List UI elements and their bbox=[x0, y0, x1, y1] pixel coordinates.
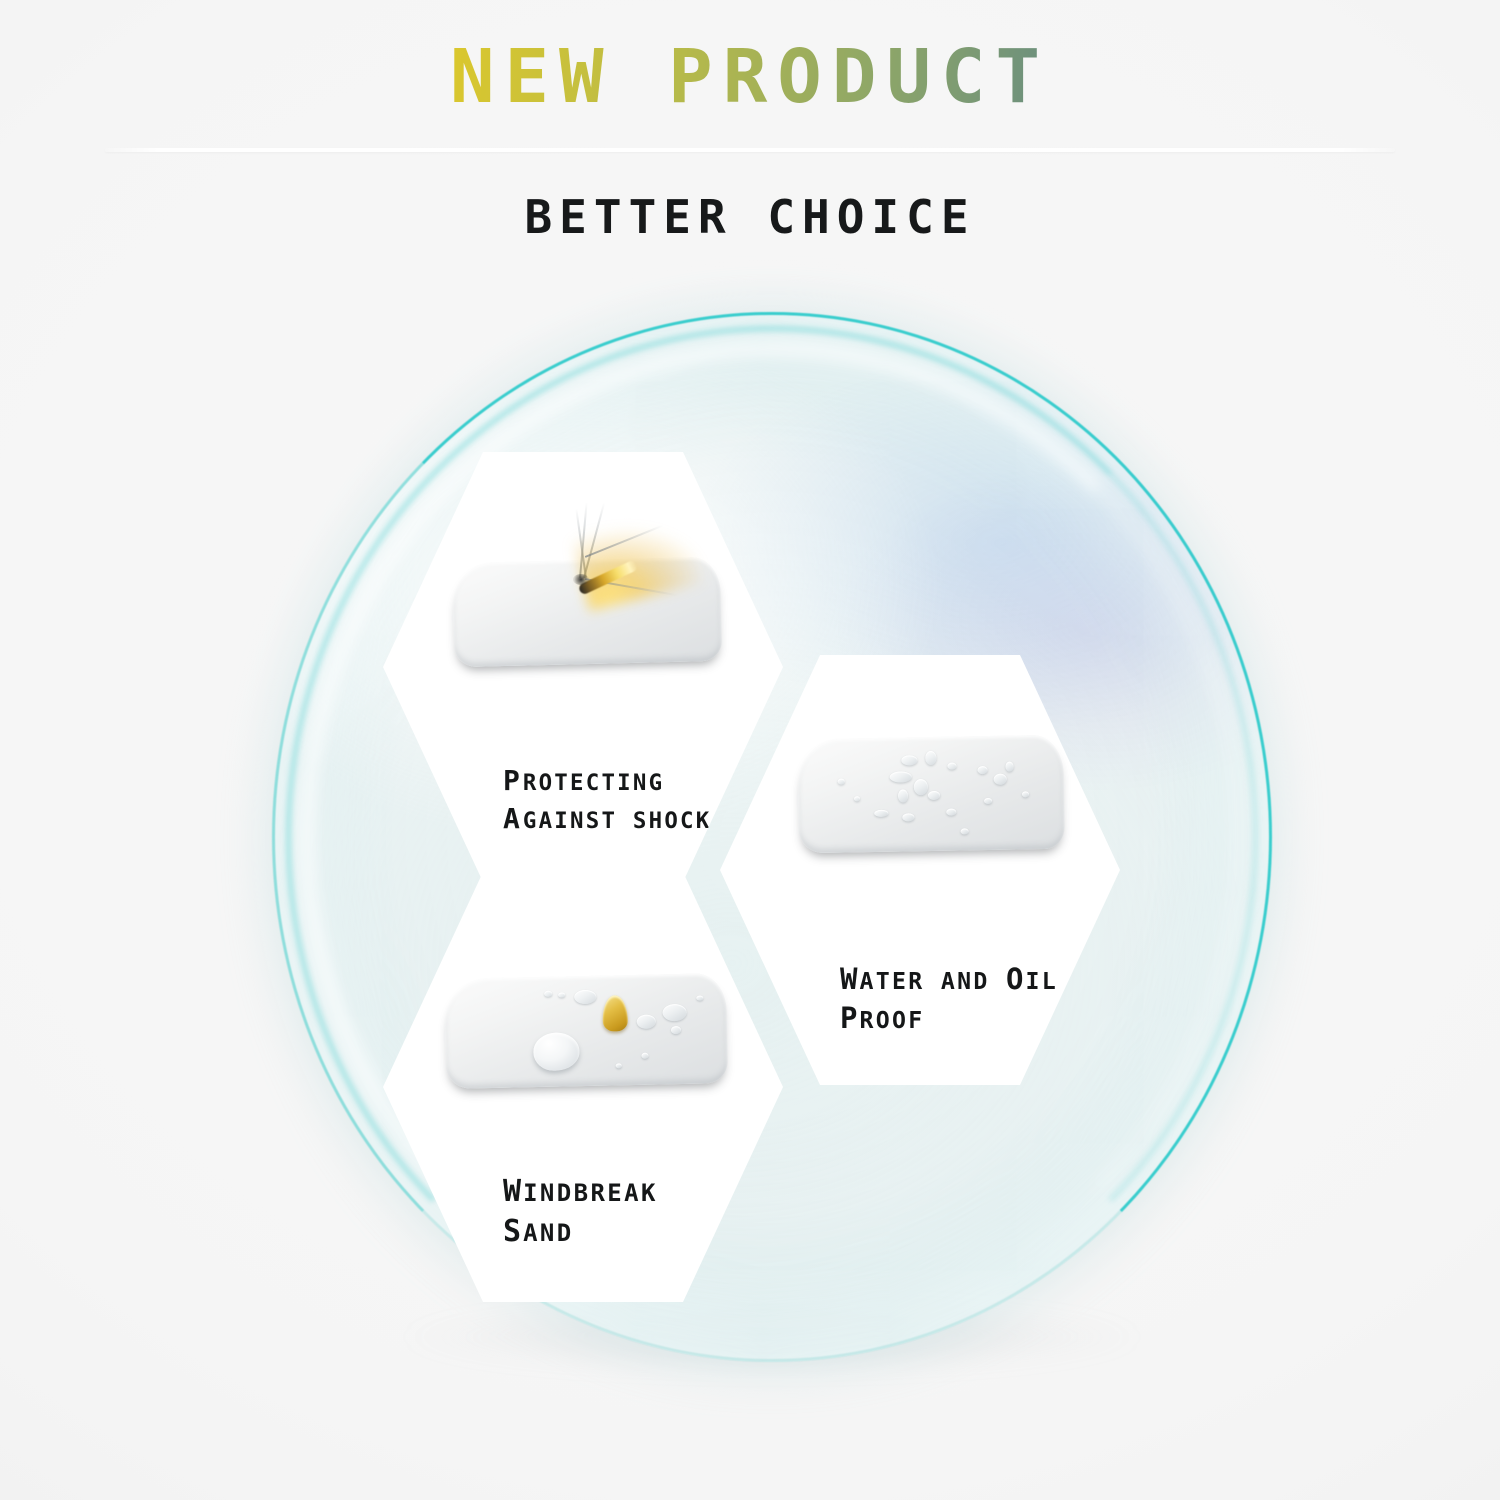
lens-oil-and-water-beads-icon bbox=[444, 973, 728, 1089]
product-infographic: NEW PRODUCT BETTER CHOICE PROTECTING bbox=[0, 0, 1500, 1500]
water-droplet bbox=[946, 809, 956, 816]
water-droplet bbox=[838, 779, 845, 785]
oil-droplet bbox=[602, 995, 628, 1032]
label-initial: P bbox=[503, 764, 523, 797]
label-body: GAINST SHOCK bbox=[523, 808, 712, 834]
water-droplet bbox=[898, 789, 908, 802]
water-droplet bbox=[641, 1053, 648, 1059]
spark-burst-icon bbox=[533, 498, 703, 618]
water-droplet bbox=[947, 763, 956, 770]
water-droplet bbox=[890, 771, 912, 782]
water-droplet bbox=[558, 992, 565, 997]
label-body: ROOF bbox=[859, 1007, 924, 1034]
page-title: NEW PRODUCT bbox=[0, 40, 1500, 114]
label-body: INDBREAK bbox=[523, 1179, 658, 1207]
water-droplet bbox=[874, 810, 888, 817]
water-droplet bbox=[901, 755, 917, 765]
water-droplet bbox=[637, 1015, 656, 1029]
impact-point bbox=[573, 574, 589, 585]
label-body: AND bbox=[523, 1219, 574, 1247]
spark-glow bbox=[572, 511, 704, 611]
water-droplet bbox=[928, 791, 940, 800]
lens-water-droplets-icon bbox=[797, 735, 1065, 854]
label-initial: W bbox=[503, 1174, 523, 1209]
water-droplet bbox=[616, 1063, 622, 1068]
water-droplet bbox=[574, 990, 596, 1004]
water-droplet bbox=[978, 766, 988, 774]
water-droplet bbox=[671, 1026, 681, 1034]
water-droplet bbox=[662, 1004, 686, 1021]
water-droplet bbox=[902, 813, 914, 821]
water-droplet bbox=[854, 796, 860, 801]
label-initial: W bbox=[840, 962, 859, 996]
title-divider bbox=[105, 148, 1395, 152]
label-body: ATER AND bbox=[859, 968, 1006, 995]
header: NEW PRODUCT BETTER CHOICE bbox=[0, 0, 1500, 270]
water-droplet bbox=[984, 798, 992, 804]
water-droplet bbox=[696, 996, 703, 1001]
label-body: IL bbox=[1025, 968, 1058, 995]
water-droplet bbox=[925, 751, 936, 765]
large-water-bead bbox=[533, 1032, 580, 1071]
water-droplet bbox=[544, 991, 552, 997]
page-subtitle: BETTER CHOICE bbox=[0, 190, 1500, 244]
label-initial: P bbox=[840, 1001, 859, 1035]
water-droplet bbox=[1005, 762, 1013, 772]
label-initial: S bbox=[503, 1214, 523, 1249]
label-initial: A bbox=[503, 802, 523, 835]
water-droplet bbox=[994, 774, 1007, 785]
label-initial: O bbox=[1006, 962, 1025, 996]
water-droplet bbox=[961, 828, 969, 834]
water-droplet bbox=[914, 779, 928, 795]
label-body: ROTECTING bbox=[523, 770, 664, 796]
water-droplet bbox=[1022, 791, 1029, 797]
